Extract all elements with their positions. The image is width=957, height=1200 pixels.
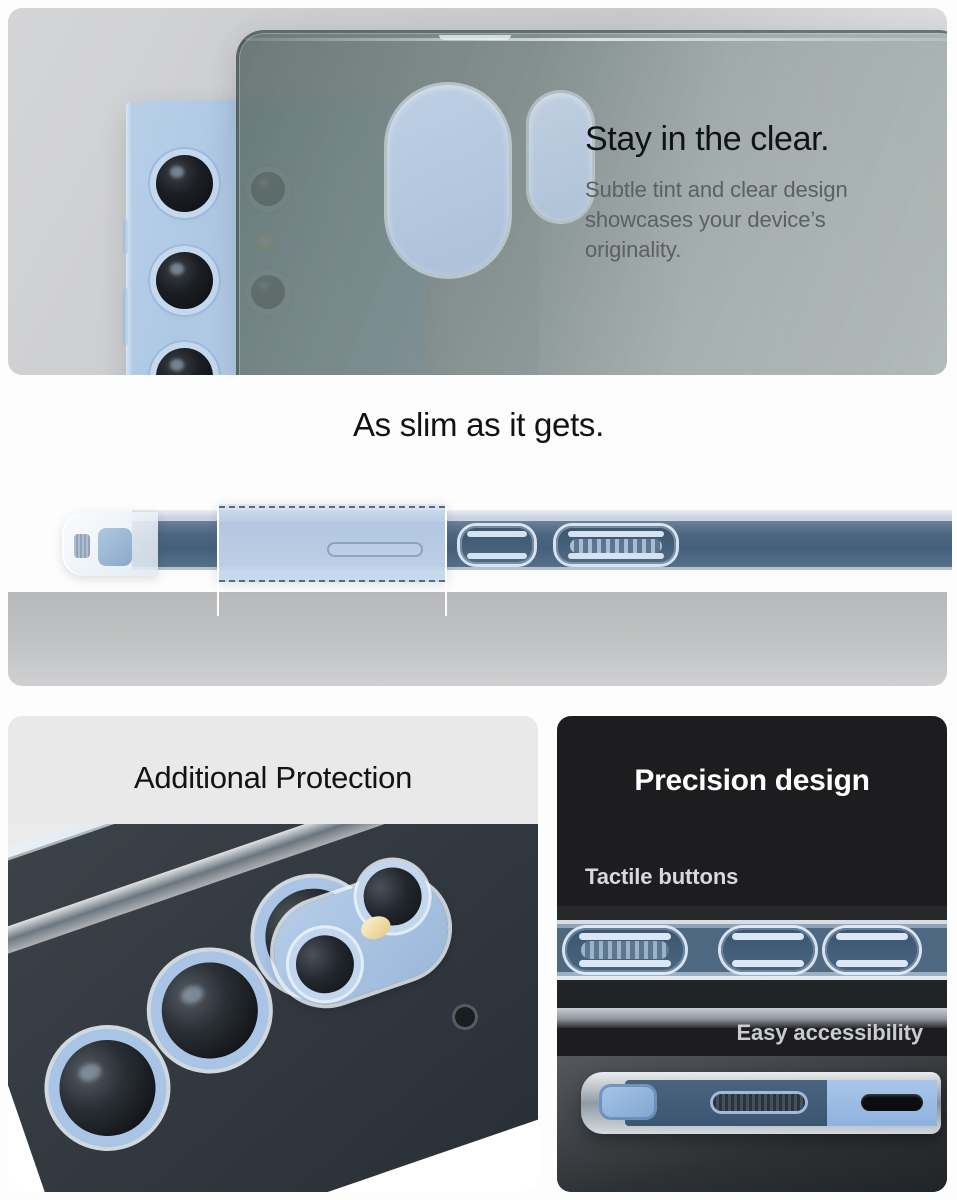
tactile-buttons-label: Tactile buttons <box>585 864 738 890</box>
button-ribs <box>570 539 662 553</box>
power-button-icon <box>123 220 128 254</box>
button-pad-top <box>467 531 526 537</box>
panel-additional-protection: Additional Protection <box>8 716 538 1192</box>
button-pad-bottom <box>732 960 803 967</box>
button-ribs <box>581 941 669 959</box>
camera-lens-icon <box>156 348 213 375</box>
tactile-buttons-photo <box>557 906 947 1008</box>
button-pad-bottom <box>836 960 907 967</box>
profile-blue-block <box>98 528 132 566</box>
button-pad-bottom <box>579 960 670 967</box>
product-feature-page: Stay in the clear. Subtle tint and clear… <box>0 0 957 1200</box>
camera-cutout-large <box>387 85 509 276</box>
button-pad-top <box>836 933 907 940</box>
slim-shelf-surface <box>8 592 947 686</box>
slim-title: As slim as it gets. <box>0 406 957 444</box>
bottom-edge-case <box>581 1072 941 1134</box>
panel-precision-design: Precision design Tactile buttons <box>557 716 947 1192</box>
speaker-grille-icon <box>713 1094 805 1111</box>
power-button-icon <box>565 928 685 972</box>
phone-side-profile <box>62 504 952 582</box>
volume-button-icon <box>123 288 128 346</box>
callout-slot <box>327 542 423 557</box>
button-pad-top <box>568 531 664 537</box>
case-top-notch <box>439 35 511 40</box>
button-pad-top <box>732 933 803 940</box>
callout-tick-left <box>217 582 219 616</box>
clear-subtitle: Subtle tint and clear design showcases y… <box>585 175 925 265</box>
protection-photo <box>8 824 538 1192</box>
button-pad-bottom <box>568 553 664 559</box>
clear-copy-block: Stay in the clear. Subtle tint and clear… <box>585 120 925 265</box>
panel-as-slim-as-it-gets: As slim as it gets. <box>0 392 957 692</box>
spen-slot-icon <box>599 1084 657 1120</box>
easy-accessibility-label: Easy accessibility <box>736 1020 923 1046</box>
easy-accessibility-photo <box>557 1056 947 1192</box>
protection-title: Additional Protection <box>8 760 538 796</box>
camera-lens-icon <box>156 252 213 309</box>
page-title: Stay in the clear. <box>585 120 925 159</box>
usb-c-port-icon <box>861 1094 923 1111</box>
volume-down-button-icon <box>825 928 919 972</box>
panel-stay-in-the-clear: Stay in the clear. Subtle tint and clear… <box>8 8 947 375</box>
camera-lens-icon <box>149 949 271 1071</box>
camera-cutout-small <box>529 93 592 221</box>
precision-title: Precision design <box>557 764 947 798</box>
power-button-icon <box>74 534 90 558</box>
camera-lens-icon <box>288 927 362 1001</box>
case-corner-left <box>62 512 158 576</box>
button-pad-bottom <box>467 553 526 559</box>
volume-button-icon <box>556 526 676 564</box>
power-button-icon <box>460 526 534 564</box>
volume-up-button-icon <box>721 928 815 972</box>
side-rail <box>557 920 947 980</box>
callout-tick-right <box>445 582 447 616</box>
thickness-callout <box>217 504 447 582</box>
button-pad-top <box>579 933 670 940</box>
camera-lens-icon <box>156 155 213 212</box>
